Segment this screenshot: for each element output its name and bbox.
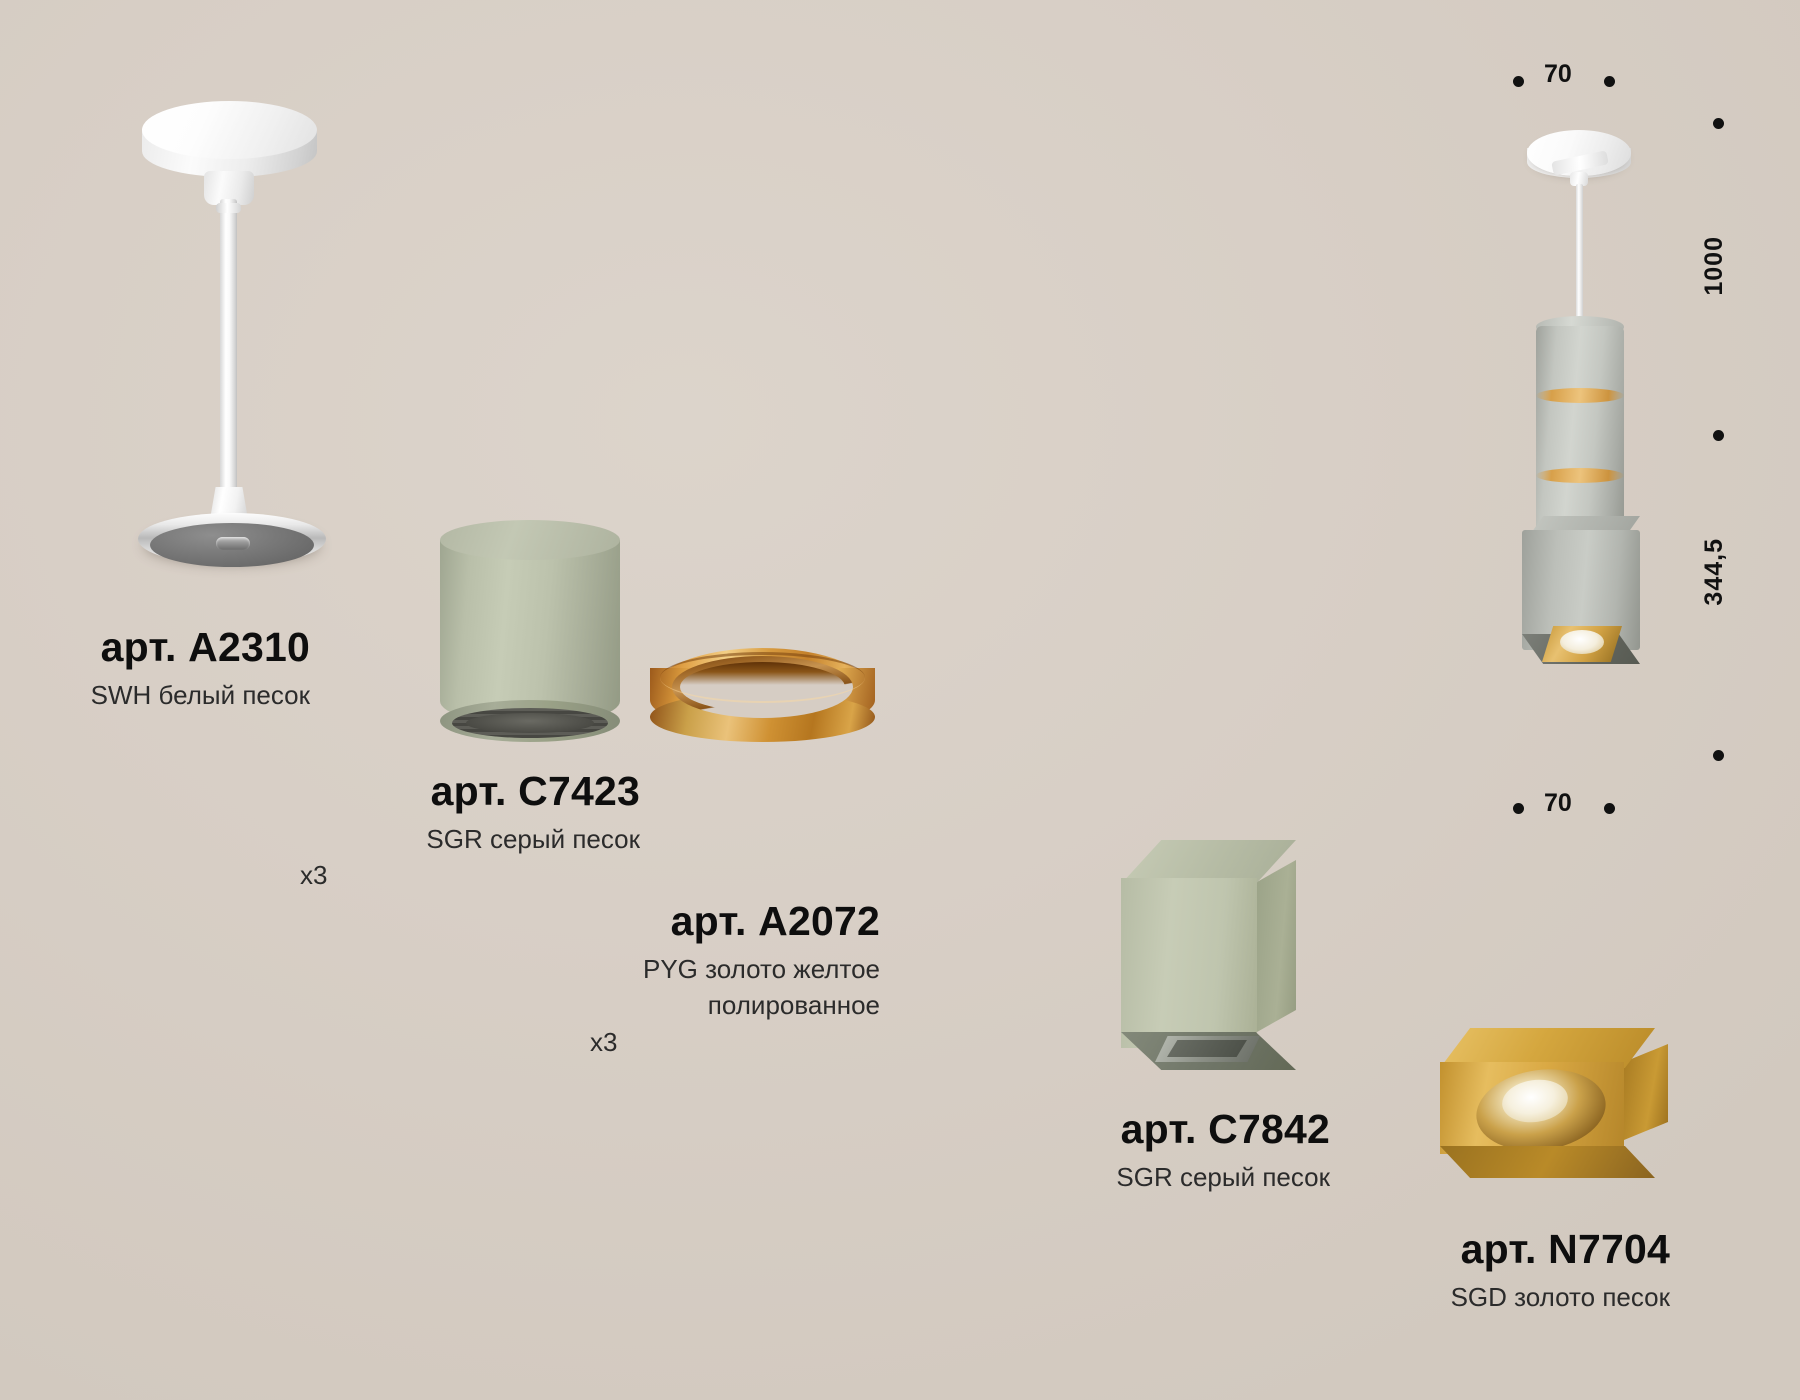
product-image-c7423 xyxy=(440,520,620,750)
product-image-a2310 xyxy=(120,95,350,575)
square-box-side xyxy=(1257,860,1296,1032)
ceiling-cup-top xyxy=(142,101,317,159)
suspension-rod xyxy=(220,199,237,499)
label-c7423: арт. C7423 SGR серый песок x3 xyxy=(300,770,640,893)
dimension-body-height: 344,5 xyxy=(1700,538,1729,606)
mounting-disc-hole xyxy=(216,537,250,550)
dimension-dot-top-left xyxy=(1513,76,1524,87)
article-code-n7704: арт. N7704 xyxy=(1320,1228,1670,1271)
product-image-c7842 xyxy=(1105,840,1325,1070)
rod-joint xyxy=(216,203,241,213)
article-desc-n7704: SGD золото песок xyxy=(1320,1280,1670,1314)
cylinder-inner-cavity xyxy=(466,713,594,733)
article-code-c7423: арт. C7423 xyxy=(300,770,640,813)
article-desc-c7423: SGR серый песок xyxy=(300,822,640,856)
dimension-dot-body-bottom xyxy=(1713,750,1724,761)
article-desc-a2072-line1: PYG золото желтое xyxy=(590,952,880,986)
dimension-dot-top-right xyxy=(1604,76,1615,87)
dimension-dot-cord-bottom xyxy=(1713,430,1724,441)
cylinder-body xyxy=(440,540,620,725)
assembled-pendant-lamp xyxy=(1490,130,1670,790)
article-code-a2072: арт. A2072 xyxy=(590,900,880,943)
dimension-dot-bottom-left xyxy=(1513,803,1524,814)
gold-square-bottom xyxy=(1440,1146,1655,1178)
dimension-cord-length: 1000 xyxy=(1700,236,1729,296)
article-code-a2310: арт. A2310 xyxy=(40,626,310,669)
square-box-front xyxy=(1121,878,1257,1048)
article-desc-a2072-line2: полированное xyxy=(590,988,880,1022)
product-image-a2072 xyxy=(650,648,875,758)
label-a2310: арт. A2310 SWH белый песок xyxy=(40,626,310,712)
label-a2072: арт. A2072 PYG золото желтое полированно… xyxy=(590,900,880,1059)
article-code-c7842: арт. C7842 xyxy=(1000,1108,1330,1151)
dimension-top-width: 70 xyxy=(1544,60,1572,89)
assembly-gold-ring-lower xyxy=(1536,468,1624,483)
label-c7842: арт. C7842 SGR серый песок xyxy=(1000,1108,1330,1194)
dimension-dot-cord-top xyxy=(1713,118,1724,129)
assembly-cylinder xyxy=(1536,326,1624,548)
assembly-lens xyxy=(1560,630,1604,654)
cylinder-top xyxy=(440,520,620,560)
article-qty-c7423: x3 xyxy=(300,858,640,892)
dimension-dot-bottom-right xyxy=(1604,803,1615,814)
gold-ring-groove xyxy=(660,652,865,703)
label-n7704: арт. N7704 SGD золото песок xyxy=(1320,1228,1670,1314)
product-image-n7704 xyxy=(1430,1028,1680,1188)
article-desc-c7842: SGR серый песок xyxy=(1000,1160,1330,1194)
article-desc-a2310: SWH белый песок xyxy=(40,678,310,712)
article-qty-a2072: x3 xyxy=(590,1025,880,1059)
assembly-gold-ring-upper xyxy=(1536,388,1624,403)
diagram-canvas: арт. A2310 SWH белый песок арт. C7423 SG… xyxy=(0,0,1800,1400)
assembly-cord xyxy=(1576,184,1583,330)
square-box-aperture-inner xyxy=(1167,1040,1247,1057)
dimension-bottom-width: 70 xyxy=(1544,789,1572,818)
